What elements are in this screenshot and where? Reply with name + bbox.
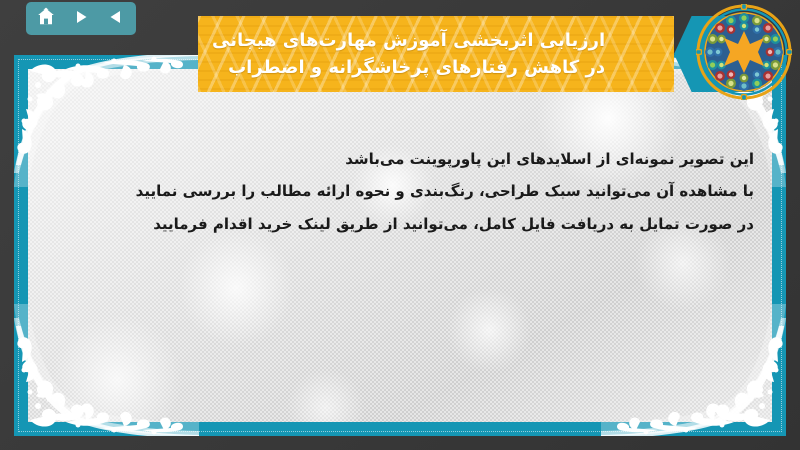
slide-content-panel: این تصویر نمونه‌ای از اسلایدهای این پاور…: [28, 69, 772, 422]
home-button[interactable]: [35, 8, 57, 30]
slide-title: ارزیابی اثربخشی آموزش مهارت‌های هیجانی د…: [212, 27, 605, 81]
slide-root: این تصویر نمونه‌ای از اسلایدهای این پاور…: [0, 0, 800, 450]
body-line-1: این تصویر نمونه‌ای از اسلایدهای این پاور…: [46, 147, 754, 171]
banner-arrow-tail: [674, 16, 754, 92]
play-right-icon: [72, 8, 90, 29]
slide-card-teal-border: این تصویر نمونه‌ای از اسلایدهای این پاور…: [14, 55, 786, 436]
next-slide-button[interactable]: [70, 8, 92, 30]
body-line-2: با مشاهده آن می‌توانید سبک طراحی، رنگ‌بن…: [46, 179, 754, 203]
navigation-button-group: [26, 2, 136, 35]
play-left-icon: [107, 8, 125, 29]
body-line-3: در صورت تمایل به دریافت فایل کامل، می‌تو…: [46, 212, 754, 236]
panel-texture-overlay: [28, 69, 772, 422]
body-text-block: این تصویر نمونه‌ای از اسلایدهای این پاور…: [46, 147, 754, 244]
title-banner: ارزیابی اثربخشی آموزش مهارت‌های هیجانی د…: [198, 16, 674, 92]
title-banner-group: ارزیابی اثربخشی آموزش مهارت‌های هیجانی د…: [198, 16, 754, 92]
previous-slide-button[interactable]: [105, 8, 127, 30]
home-icon: [36, 7, 56, 30]
